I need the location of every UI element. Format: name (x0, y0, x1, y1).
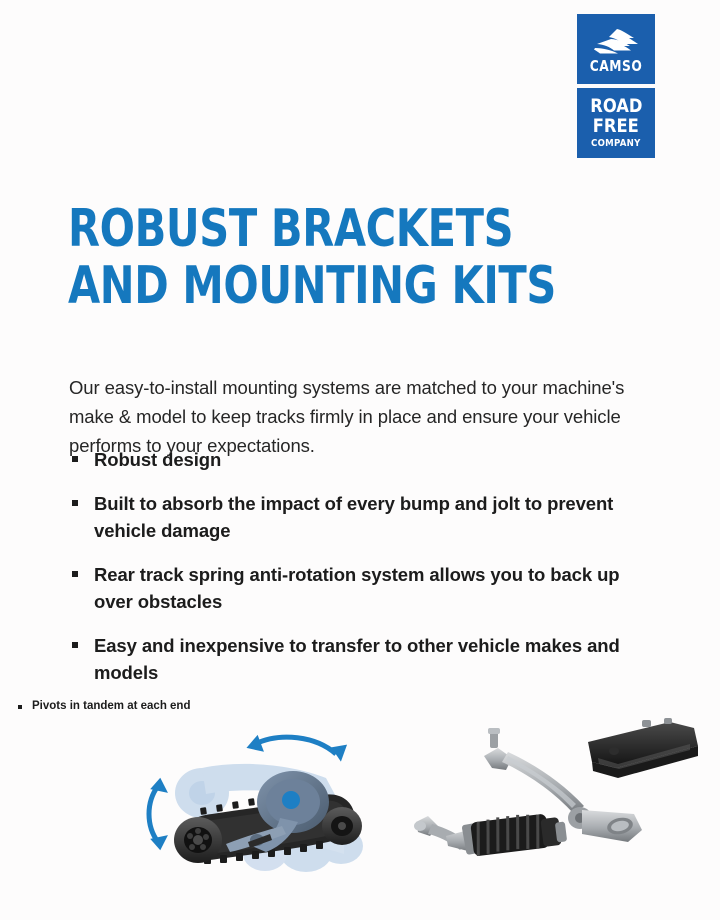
road-free-company-tile: ROAD FREE COMPANY (577, 88, 655, 158)
square-bullet-icon (72, 571, 78, 577)
pivot-caption: Pivots in tandem at each end (18, 700, 190, 712)
list-item-label: Rear track spring anti-rotation system a… (94, 561, 629, 615)
list-item: Rear track spring anti-rotation system a… (69, 561, 629, 615)
feature-list: Robust design Built to absorb the impact… (69, 446, 629, 686)
tagline-company: COMPANY (591, 139, 641, 149)
top-right-arrow-head-left (244, 734, 264, 755)
tagline-road: ROAD (590, 97, 642, 116)
coil-spring (470, 812, 550, 856)
headline-line-2: AND MOUNTING KITS (68, 258, 556, 315)
square-bullet-icon (18, 705, 22, 709)
list-item: Easy and inexpensive to transfer to othe… (69, 632, 629, 686)
page-title: ROBUST BRACKETS AND MOUNTING KITS (68, 201, 556, 315)
list-item-label: Robust design (94, 446, 629, 473)
figure-row (0, 718, 720, 898)
camso-wordmark: CAMSO (590, 59, 643, 74)
mounting-bracket (588, 718, 698, 778)
track-pivot-diagram (130, 730, 395, 890)
front-idler-wheel (322, 807, 362, 845)
left-pivot-arrow (149, 786, 158, 842)
camso-mountain-mark-icon (593, 26, 639, 56)
list-item-label: Built to absorb the impact of every bump… (94, 490, 629, 544)
list-item-label: Easy and inexpensive to transfer to othe… (94, 632, 629, 686)
list-item: Built to absorb the impact of every bump… (69, 490, 629, 544)
mounting-hardware-photo (402, 718, 702, 886)
tagline-free: FREE (593, 117, 639, 136)
camso-logo: CAMSO ROAD FREE COMPANY (577, 14, 655, 158)
spring-damper-assembly (414, 812, 567, 856)
square-bullet-icon (72, 456, 78, 462)
top-right-pivot-arrow (255, 737, 336, 754)
rear-idler-wheel (174, 817, 222, 863)
square-bullet-icon (72, 500, 78, 506)
camso-logo-tile: CAMSO (577, 14, 655, 84)
headline-line-1: ROBUST BRACKETS (68, 201, 556, 258)
square-bullet-icon (72, 642, 78, 648)
list-item: Robust design (69, 446, 629, 473)
pivot-caption-label: Pivots in tandem at each end (32, 700, 190, 712)
